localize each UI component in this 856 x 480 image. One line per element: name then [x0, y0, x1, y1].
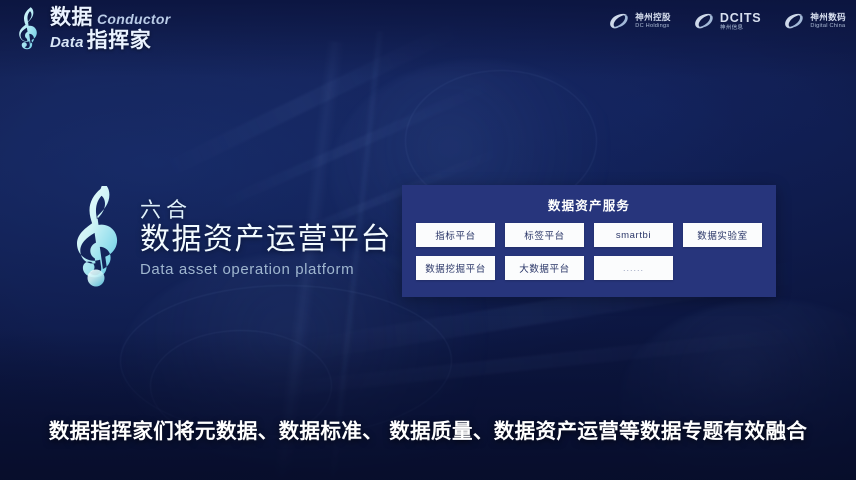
treble-clef-icon: [12, 6, 46, 50]
service-tile-tag-platform[interactable]: 标签平台: [505, 223, 584, 247]
swirl-mark-icon: [693, 12, 715, 30]
slide-root: 数据 Conductor Data 指挥家 神州控股 DC Holdings: [0, 0, 856, 480]
brand-en-conductor: Conductor: [97, 12, 170, 26]
slide-caption: 数据指挥家们将元数据、数据标准、 数据质量、数据资产运营等数据专题有效融合: [0, 414, 856, 444]
service-tile-indicator-platform[interactable]: 指标平台: [416, 223, 495, 247]
platform-title-small: 六合: [140, 200, 392, 221]
platform-title-main: 数据资产运营平台: [140, 225, 392, 255]
brand-logo: 数据 Conductor Data 指挥家: [12, 6, 170, 50]
brand-cn-primary: 数据: [50, 7, 93, 28]
partner-logo-dc-holdings: 神州控股 DC Holdings: [608, 12, 671, 30]
partner-en-name: Digital China: [810, 23, 846, 29]
partner-cn-name: DCITS: [720, 11, 762, 25]
swirl-mark-icon: [608, 12, 630, 30]
service-tile-smartbi[interactable]: smartbi: [594, 223, 673, 247]
partner-logo-group: 神州控股 DC Holdings DCITS 神州信息: [608, 11, 846, 31]
bottom-gradient-overlay: [0, 330, 856, 480]
service-tile-big-data-platform[interactable]: 大数据平台: [505, 256, 584, 280]
brand-cn-secondary: 指挥家: [87, 30, 152, 51]
brand-wordmark: 数据 Conductor Data 指挥家: [50, 7, 170, 51]
partner-en-name: 神州信息: [720, 25, 762, 31]
partner-en-name: DC Holdings: [635, 23, 671, 29]
tile-row-spacer: [683, 256, 762, 280]
partner-cn-name: 神州控股: [635, 13, 671, 23]
service-tile-more[interactable]: ......: [594, 256, 673, 280]
service-tile-row-1: 指标平台 标签平台 smartbi 数据实验室: [402, 223, 776, 247]
partner-logo-digital-china: 神州数码 Digital China: [783, 12, 846, 30]
panel-title: 数据资产服务: [402, 185, 776, 214]
partner-logo-dcits: DCITS 神州信息: [693, 11, 762, 31]
partner-cn-name: 神州数码: [810, 13, 846, 23]
brand-en-data: Data: [50, 35, 84, 50]
treble-clef-icon: [70, 186, 126, 290]
swirl-mark-icon: [783, 12, 805, 30]
header-bar: 数据 Conductor Data 指挥家 神州控股 DC Holdings: [0, 0, 856, 58]
platform-title-block: 六合 数据资产运营平台 Data asset operation platfor…: [70, 186, 392, 290]
platform-title-english: Data asset operation platform: [140, 262, 392, 277]
service-tile-row-2: 数据挖掘平台 大数据平台 ......: [402, 256, 776, 280]
service-tile-data-mining-platform[interactable]: 数据挖掘平台: [416, 256, 495, 280]
service-tile-data-lab[interactable]: 数据实验室: [683, 223, 762, 247]
data-asset-service-panel: 数据资产服务 指标平台 标签平台 smartbi 数据实验室 数据挖掘平台 大数…: [402, 185, 776, 297]
